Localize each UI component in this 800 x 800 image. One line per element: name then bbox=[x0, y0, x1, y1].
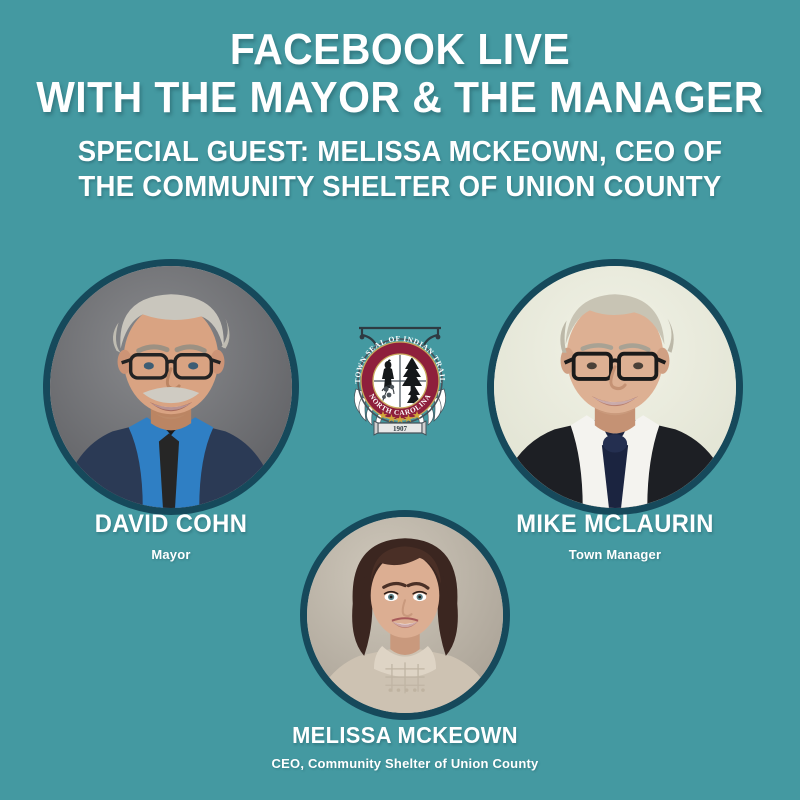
subtitle-line-2: THE COMMUNITY SHELTER OF UNION COUNTY bbox=[20, 170, 780, 205]
caption-mike-mclaurin: MIKE MCLAURIN Town Manager bbox=[485, 510, 745, 562]
portrait-mike-mclaurin bbox=[487, 259, 743, 515]
portrait-melissa-mckeown bbox=[300, 510, 510, 720]
person-name-melissa-mckeown: MELISSA MCKEOWN bbox=[253, 722, 557, 749]
subtitle-line-1: SPECIAL GUEST: MELISSA MCKEOWN, CEO OF bbox=[20, 135, 780, 170]
town-seal-graphic: TOWN SEAL OF INDIAN TRAIL NORTH CAROLINA bbox=[338, 315, 462, 439]
headline-line-1: FACEBOOK LIVE bbox=[28, 0, 772, 74]
person-role-mike-mclaurin: Town Manager bbox=[485, 547, 745, 562]
promo-graphic: FACEBOOK LIVE WITH THE MAYOR & THE MANAG… bbox=[0, 0, 800, 800]
seal-banner: 1907 bbox=[374, 421, 426, 435]
caption-melissa-mckeown: MELISSA MCKEOWN CEO, Community Shelter o… bbox=[245, 722, 565, 771]
person-name-mike-mclaurin: MIKE MCLAURIN bbox=[492, 510, 739, 539]
headline-line-2: WITH THE MAYOR & THE MANAGER bbox=[28, 74, 772, 122]
portrait-image-melissa-mckeown bbox=[307, 517, 503, 713]
portrait-image-mike-mclaurin bbox=[494, 266, 736, 508]
seal-banner-year: 1907 bbox=[393, 425, 408, 433]
caption-david-cohn: DAVID COHN Mayor bbox=[41, 510, 301, 562]
person-name-david-cohn: DAVID COHN bbox=[48, 510, 295, 539]
portrait-image-david-cohn bbox=[50, 266, 292, 508]
person-role-melissa-mckeown: CEO, Community Shelter of Union County bbox=[245, 756, 565, 771]
person-role-david-cohn: Mayor bbox=[41, 547, 301, 562]
portrait-david-cohn bbox=[43, 259, 299, 515]
header-text-block: FACEBOOK LIVE WITH THE MAYOR & THE MANAG… bbox=[0, 0, 800, 205]
town-seal-icon: TOWN SEAL OF INDIAN TRAIL NORTH CAROLINA bbox=[338, 315, 462, 439]
